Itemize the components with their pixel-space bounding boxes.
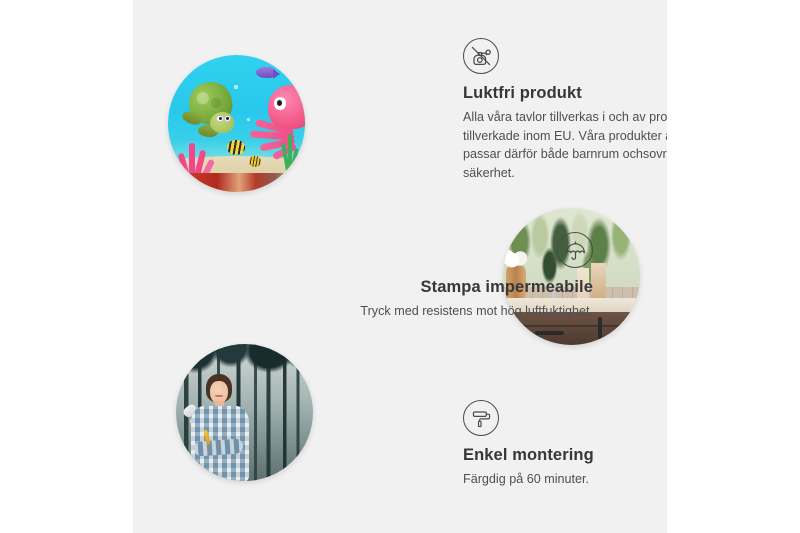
product-feature-infographic: Luktfri produkt Alla våra tavlor tillver…: [0, 0, 800, 533]
no-fragrance-icon: [463, 38, 499, 74]
paint-roller-icon: [463, 400, 499, 436]
underwater-illustration: [168, 55, 305, 192]
feature-odour-free: Luktfri produkt Alla våra tavlor tillver…: [463, 38, 667, 183]
feature-description: Färgdig på 60 minuter.: [463, 470, 667, 489]
fish-purple: [256, 67, 275, 78]
feature-title: Luktfri produkt: [463, 84, 667, 103]
drawer-handle: [535, 331, 564, 335]
seagrass: [283, 134, 297, 175]
turtle-eye: [224, 115, 231, 122]
door-handle: [598, 317, 602, 339]
feature-description: Tryck med resistens mot hög luftfuktighe…: [345, 302, 593, 321]
cabinet-seam: [506, 325, 638, 327]
fish-yellow: [227, 140, 245, 155]
octopus-body: [268, 85, 305, 129]
image-underwater-scene: [168, 55, 305, 192]
umbrella-icon: [557, 232, 593, 268]
feature-description: Alla våra tavlor tillverkas i och av pro…: [463, 108, 667, 183]
room-foreground-strip: [168, 173, 305, 192]
feature-easy-mounting: Enkel montering Färgdig på 60 minuter.: [463, 400, 667, 489]
feature-title: Enkel montering: [463, 446, 667, 465]
sea-turtle: [184, 82, 244, 140]
octopus-eye: [274, 97, 286, 110]
forest-mural-illustration: [176, 344, 313, 481]
image-installer-scene: [176, 344, 313, 481]
feature-title: Stampa impermeabile: [345, 278, 593, 297]
infographic-panel: Luktfri produkt Alla våra tavlor tillver…: [133, 0, 667, 533]
installer-person: [184, 374, 269, 481]
feature-waterproof: Stampa impermeabile Tryck med resistens …: [345, 232, 593, 321]
turtle-head: [210, 112, 234, 133]
turtle-eye: [216, 115, 223, 122]
